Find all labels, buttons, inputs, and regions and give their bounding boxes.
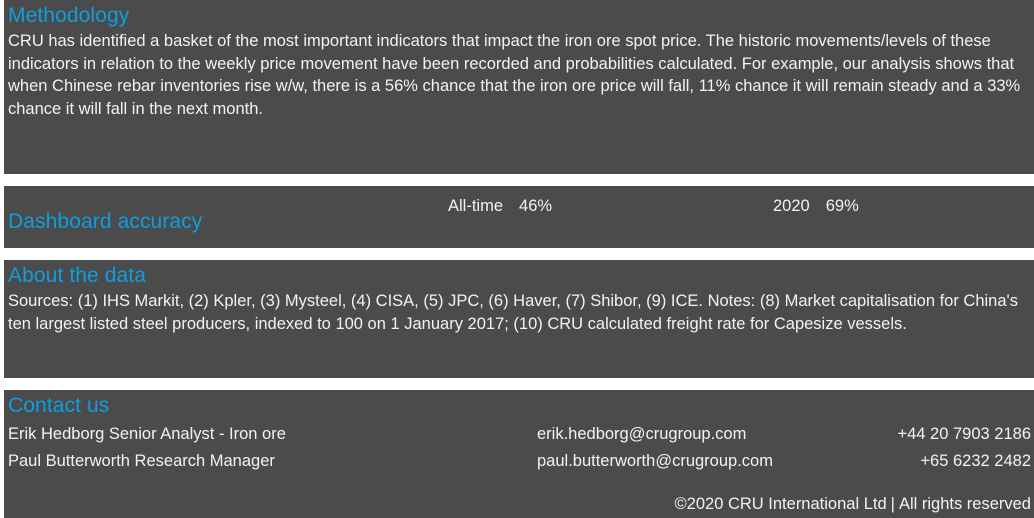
methodology-heading: Methodology (8, 3, 1026, 29)
contact-us-panel: Contact us Erik Hedborg Senior Analyst -… (4, 390, 1034, 518)
accuracy-stat-2020-value: 69% (826, 196, 859, 216)
contact-us-heading: Contact us (8, 393, 1034, 419)
contact-phone-erik-hedborg[interactable]: +44 20 7903 2186 (897, 421, 1031, 448)
accuracy-stat-all-time: All-time 46% (448, 196, 552, 216)
contact-email-erik-hedborg[interactable]: erik.hedborg@crugroup.com (537, 421, 746, 448)
dashboard-footer-page: Methodology CRU has identified a basket … (0, 0, 1034, 518)
copyright-separator: | (887, 495, 899, 513)
contact-row: Erik Hedborg Senior Analyst - Iron ore e… (8, 421, 1034, 448)
accuracy-stat-2020: 2020 69% (773, 196, 859, 216)
copyright-notice: ©2020 CRU International Ltd|All rights r… (675, 493, 1031, 515)
about-the-data-heading: About the data (8, 263, 1026, 289)
dashboard-accuracy-heading: Dashboard accuracy (8, 209, 202, 235)
contact-name-erik-hedborg: Erik Hedborg Senior Analyst - Iron ore (8, 421, 286, 448)
contact-phone-paul-butterworth[interactable]: +65 6232 2482 (920, 448, 1031, 475)
contact-name-paul-butterworth: Paul Butterworth Research Manager (8, 448, 275, 475)
accuracy-stat-all-time-value: 46% (519, 196, 552, 216)
copyright-text: ©2020 CRU International Ltd (675, 495, 887, 513)
dashboard-accuracy-panel: Dashboard accuracy All-time 46% 2020 69% (4, 186, 1034, 248)
accuracy-stat-2020-label: 2020 (773, 196, 810, 216)
accuracy-stat-all-time-label: All-time (448, 196, 503, 216)
about-the-data-panel: About the data Sources: (1) IHS Markit, … (4, 260, 1034, 378)
about-the-data-body-text: Sources: (1) IHS Markit, (2) Kpler, (3) … (8, 290, 1026, 335)
all-rights-reserved-text: All rights reserved (899, 495, 1031, 513)
methodology-body-text: CRU has identified a basket of the most … (8, 30, 1026, 120)
contact-row: Paul Butterworth Research Manager paul.b… (8, 448, 1034, 475)
methodology-panel: Methodology CRU has identified a basket … (4, 0, 1034, 174)
contact-email-paul-butterworth[interactable]: paul.butterworth@crugroup.com (537, 448, 773, 475)
